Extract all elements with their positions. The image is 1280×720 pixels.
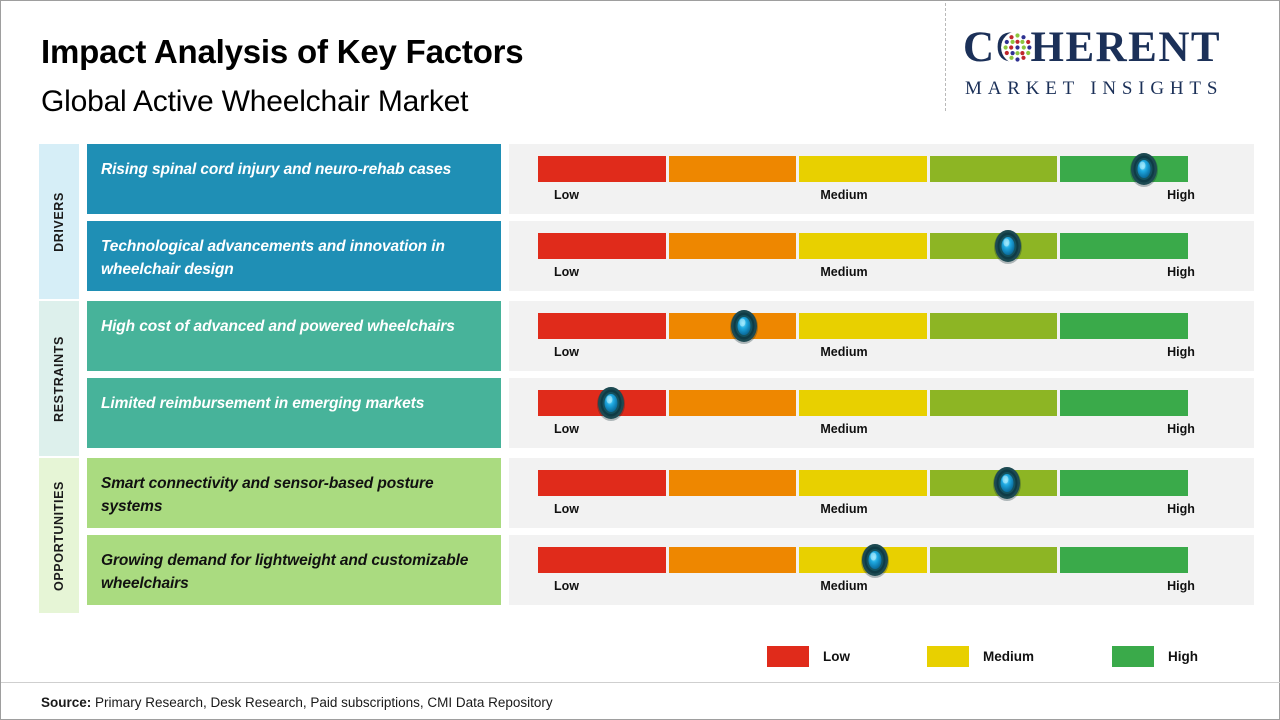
footer: Source: Primary Research, Desk Research,… bbox=[1, 682, 1280, 720]
gauge-segment-5 bbox=[1060, 470, 1188, 496]
gauge-segment-1 bbox=[538, 547, 666, 573]
gauge-segment-3 bbox=[799, 313, 927, 339]
scale-label-medium: Medium bbox=[820, 422, 867, 436]
group-label-text: RESTRAINTS bbox=[52, 336, 66, 422]
legend-label: High bbox=[1168, 649, 1198, 664]
source-label: Source: bbox=[41, 695, 91, 710]
legend-swatch bbox=[927, 646, 969, 667]
gauge-segment-5 bbox=[1060, 233, 1188, 259]
legend-label: Medium bbox=[983, 649, 1034, 664]
impact-matrix: DRIVERSRESTRAINTSOPPORTUNITIESRising spi… bbox=[1, 138, 1280, 615]
gauge-segment-4 bbox=[930, 233, 1058, 259]
factor-box: High cost of advanced and powered wheelc… bbox=[87, 301, 501, 371]
factor-box: Rising spinal cord injury and neuro-reha… bbox=[87, 144, 501, 214]
gauge-segment-3 bbox=[799, 470, 927, 496]
factor-text: Rising spinal cord injury and neuro-reha… bbox=[101, 161, 451, 178]
gauge-segment-2 bbox=[669, 313, 797, 339]
logo-tagline: MARKET INSIGHTS bbox=[965, 78, 1223, 100]
factor-text: Limited reimbursement in emerging market… bbox=[101, 395, 424, 412]
factor-box: Technological advancements and innovatio… bbox=[87, 221, 501, 291]
impact-gauge[interactable]: LowMediumHigh bbox=[509, 221, 1254, 291]
gauge-segment-5 bbox=[1060, 313, 1188, 339]
source-line: Source: Primary Research, Desk Research,… bbox=[41, 695, 553, 710]
group-label-restraints: RESTRAINTS bbox=[39, 301, 79, 456]
gauge-segment-1 bbox=[538, 470, 666, 496]
page-subtitle: Global Active Wheelchair Market bbox=[41, 85, 468, 119]
scale-label-low: Low bbox=[554, 265, 579, 279]
gauge-segment-2 bbox=[669, 547, 797, 573]
gauge-segment-1 bbox=[538, 233, 666, 259]
factor-text: High cost of advanced and powered wheelc… bbox=[101, 318, 455, 335]
legend-item: High bbox=[1112, 646, 1198, 667]
scale-label-low: Low bbox=[554, 579, 579, 593]
scale-label-high: High bbox=[1167, 502, 1195, 516]
gauge-segment-3 bbox=[799, 390, 927, 416]
legend-swatch bbox=[767, 646, 809, 667]
impact-gauge[interactable]: LowMediumHigh bbox=[509, 301, 1254, 371]
gauge-segment-4 bbox=[930, 470, 1058, 496]
gauge-segment-1 bbox=[538, 313, 666, 339]
gauge-segment-2 bbox=[669, 470, 797, 496]
source-text: Primary Research, Desk Research, Paid su… bbox=[91, 695, 552, 710]
scale-label-medium: Medium bbox=[820, 265, 867, 279]
scale-label-medium: Medium bbox=[820, 188, 867, 202]
gauge-segment-5 bbox=[1060, 390, 1188, 416]
group-label-opportunities: OPPORTUNITIES bbox=[39, 458, 79, 613]
gauge-segment-4 bbox=[930, 313, 1058, 339]
impact-gauge[interactable]: LowMediumHigh bbox=[509, 535, 1254, 605]
group-label-text: OPPORTUNITIES bbox=[52, 481, 66, 591]
scale-label-high: High bbox=[1167, 579, 1195, 593]
gauge-segment-4 bbox=[930, 547, 1058, 573]
gauge-track bbox=[538, 156, 1188, 182]
legend-item: Medium bbox=[927, 646, 1034, 667]
factor-text: Smart connectivity and sensor-based post… bbox=[101, 475, 434, 515]
factor-text: Growing demand for lightweight and custo… bbox=[101, 552, 468, 592]
gauge-segment-1 bbox=[538, 156, 666, 182]
impact-gauge[interactable]: LowMediumHigh bbox=[509, 144, 1254, 214]
scale-label-medium: Medium bbox=[820, 502, 867, 516]
gauge-segment-2 bbox=[669, 156, 797, 182]
gauge-segment-4 bbox=[930, 390, 1058, 416]
factor-box: Growing demand for lightweight and custo… bbox=[87, 535, 501, 605]
scale-label-medium: Medium bbox=[820, 345, 867, 359]
gauge-track bbox=[538, 313, 1188, 339]
legend-swatch bbox=[1112, 646, 1154, 667]
scale-label-low: Low bbox=[554, 345, 579, 359]
gauge-track bbox=[538, 547, 1188, 573]
gauge-track bbox=[538, 233, 1188, 259]
scale-label-low: Low bbox=[554, 422, 579, 436]
scale-label-high: High bbox=[1167, 265, 1195, 279]
gauge-segment-2 bbox=[669, 233, 797, 259]
gauge-segment-2 bbox=[669, 390, 797, 416]
scale-label-medium: Medium bbox=[820, 579, 867, 593]
gauge-segment-3 bbox=[799, 233, 927, 259]
gauge-track bbox=[538, 470, 1188, 496]
gauge-segment-5 bbox=[1060, 156, 1188, 182]
gauge-segment-3 bbox=[799, 156, 927, 182]
scale-label-high: High bbox=[1167, 188, 1195, 202]
legend-label: Low bbox=[823, 649, 850, 664]
infographic-page: Impact Analysis of Key Factors Global Ac… bbox=[0, 0, 1280, 720]
factor-box: Limited reimbursement in emerging market… bbox=[87, 378, 501, 448]
impact-gauge[interactable]: LowMediumHigh bbox=[509, 378, 1254, 448]
page-title: Impact Analysis of Key Factors bbox=[41, 33, 523, 71]
impact-gauge[interactable]: LowMediumHigh bbox=[509, 458, 1254, 528]
legend: LowMediumHigh bbox=[767, 646, 1197, 670]
legend-item: Low bbox=[767, 646, 850, 667]
gauge-segment-3 bbox=[799, 547, 927, 573]
scale-label-low: Low bbox=[554, 502, 579, 516]
factor-box: Smart connectivity and sensor-based post… bbox=[87, 458, 501, 528]
group-label-text: DRIVERS bbox=[52, 192, 66, 252]
gauge-segment-1 bbox=[538, 390, 666, 416]
scale-label-high: High bbox=[1167, 345, 1195, 359]
company-logo: COHERENT bbox=[963, 23, 1263, 107]
scale-label-low: Low bbox=[554, 188, 579, 202]
gauge-track bbox=[538, 390, 1188, 416]
factor-text: Technological advancements and innovatio… bbox=[101, 238, 445, 278]
gauge-segment-4 bbox=[930, 156, 1058, 182]
header: Impact Analysis of Key Factors Global Ac… bbox=[1, 1, 1280, 133]
globe-icon-svg bbox=[1001, 31, 1034, 64]
header-divider bbox=[945, 3, 946, 111]
globe-icon bbox=[1001, 31, 1034, 64]
gauge-segment-5 bbox=[1060, 547, 1188, 573]
scale-label-high: High bbox=[1167, 422, 1195, 436]
group-label-drivers: DRIVERS bbox=[39, 144, 79, 299]
